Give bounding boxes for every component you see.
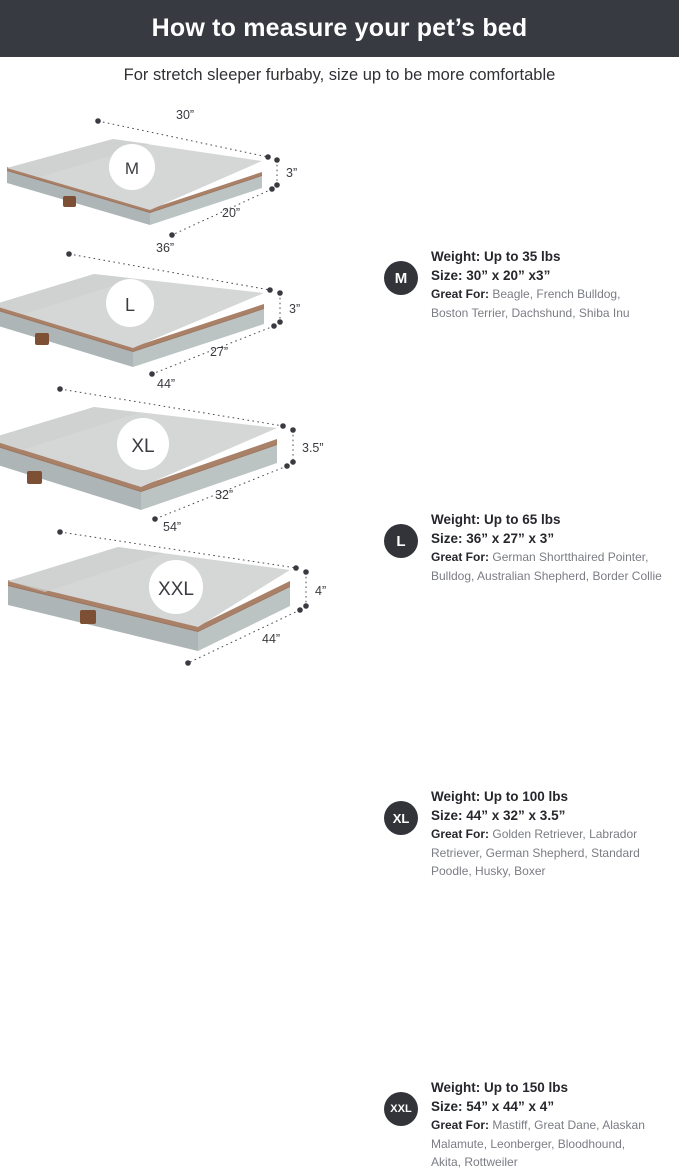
bed-size-badge-m: M: [109, 144, 155, 190]
dim-dot: [95, 118, 101, 124]
size-info-text: Weight: Up to 150 lbs Size: 54” x 44” x …: [431, 1078, 679, 1172]
dim-label-depth: 27”: [210, 345, 228, 359]
bed-size-badge-l: L: [106, 279, 154, 327]
size-badge-xl: XL: [384, 801, 418, 835]
bed-tag-icon: [63, 196, 76, 207]
dim-dot: [303, 603, 309, 609]
dim-dot: [274, 157, 280, 163]
great-for-label: Great For:: [431, 827, 489, 841]
badge-letter: XXL: [158, 579, 194, 600]
dim-dot: [277, 319, 283, 325]
great-for-line-3: Poodle, Husky, Boxer: [431, 863, 679, 881]
bed-tag-icon: [27, 471, 42, 484]
badge-letter: M: [125, 159, 139, 178]
dim-label-width: 44”: [157, 377, 175, 391]
dim-dot: [303, 569, 309, 575]
dim-dot: [297, 607, 303, 613]
dim-dot: [57, 386, 63, 392]
dim-label-height: 3.5”: [302, 441, 324, 455]
dim-dot: [274, 182, 280, 188]
dim-dot: [57, 529, 63, 535]
dim-dot: [185, 660, 191, 666]
bed-tag-icon: [35, 333, 49, 345]
size-row-m: 30” 3” 20”: [0, 105, 679, 240]
great-for-line-2: Malamute, Leonberger, Bloodhound,: [431, 1136, 679, 1154]
dim-label-width: 30”: [176, 108, 194, 122]
dim-label-depth: 44”: [262, 632, 280, 646]
size-row-l: 36” 3” 27”: [0, 238, 679, 378]
great-for-line-1: Great For: Golden Retriever, Labrador: [431, 826, 679, 844]
dim-dot: [66, 251, 72, 257]
size-info-xxl: XXL Weight: Up to 150 lbs Size: 54” x 44…: [384, 1078, 679, 1172]
great-for-value: Retriever, German Shepherd, Standard: [431, 846, 640, 860]
great-for-value: Mastiff, Great Dane, Alaskan: [492, 1118, 645, 1132]
badge-letter: L: [125, 295, 135, 315]
dim-dot: [169, 232, 175, 238]
size-info-xl: XL Weight: Up to 100 lbs Size: 44” x 32”…: [384, 787, 679, 881]
great-for-line-2: Retriever, German Shepherd, Standard: [431, 845, 679, 863]
badge-letter: XL: [131, 436, 154, 457]
great-for-value: Akita, Rottweiler: [431, 1155, 518, 1169]
bed-illustration-m: 30” 3” 20”: [0, 105, 380, 240]
dim-height-l: 3”: [277, 290, 300, 325]
bed-illustration-xxl: 54” 4” 44”: [0, 520, 380, 667]
bed-size-badge-xxl: XXL: [149, 560, 203, 614]
great-for-value: Poodle, Husky, Boxer: [431, 864, 546, 878]
page-title: How to measure your pet’s bed: [152, 14, 528, 43]
size-line: Size: 44” x 32” x 3.5”: [431, 806, 679, 825]
great-for-value: Malamute, Leonberger, Bloodhound,: [431, 1137, 625, 1151]
size-row-xxl: 54” 4” 44”: [0, 520, 679, 667]
size-info-text: Weight: Up to 100 lbs Size: 44” x 32” x …: [431, 787, 679, 881]
size-line: Size: 54” x 44” x 4”: [431, 1097, 679, 1116]
dim-dot: [280, 423, 286, 429]
dim-dot: [271, 323, 277, 329]
dim-label-width: 36”: [156, 241, 174, 255]
great-for-label: Great For:: [431, 1118, 489, 1132]
dim-dot: [284, 463, 290, 469]
dim-label-height: 3”: [289, 302, 300, 316]
dim-height-xxl: 4”: [303, 569, 326, 609]
weight-line: Weight: Up to 100 lbs: [431, 787, 679, 806]
dim-height-m: 3”: [274, 157, 297, 188]
bed-illustration-l: 36” 3” 27”: [0, 238, 380, 378]
dim-dot: [265, 154, 271, 160]
great-for-line-3: Akita, Rottweiler: [431, 1154, 679, 1172]
size-row-xl: 44” 3.5” 32”: [0, 375, 679, 523]
dim-label-height: 4”: [315, 584, 326, 598]
dim-label-width: 54”: [163, 520, 181, 534]
dim-label-height: 3”: [286, 166, 297, 180]
bed-illustration-xl: 44” 3.5” 32”: [0, 375, 380, 523]
dim-dot: [267, 287, 273, 293]
great-for-line-1: Great For: Mastiff, Great Dane, Alaskan: [431, 1117, 679, 1135]
bed-tag-icon: [80, 610, 96, 624]
dim-dot: [290, 427, 296, 433]
dim-dot: [269, 186, 275, 192]
dim-dot: [293, 565, 299, 571]
bed-body: [8, 547, 290, 651]
dim-dot: [290, 459, 296, 465]
subtitle-text: For stretch sleeper furbaby, size up to …: [0, 66, 679, 85]
bed-size-badge-xl: XL: [117, 418, 169, 470]
dim-dot: [277, 290, 283, 296]
weight-line: Weight: Up to 150 lbs: [431, 1078, 679, 1097]
great-for-value: Golden Retriever, Labrador: [492, 827, 637, 841]
dim-height-xl: 3.5”: [290, 427, 323, 465]
dim-label-depth: 20”: [222, 206, 240, 220]
header-bar: How to measure your pet’s bed: [0, 0, 679, 57]
size-badge-xxl: XXL: [384, 1092, 418, 1126]
dim-label-depth: 32”: [215, 488, 233, 502]
